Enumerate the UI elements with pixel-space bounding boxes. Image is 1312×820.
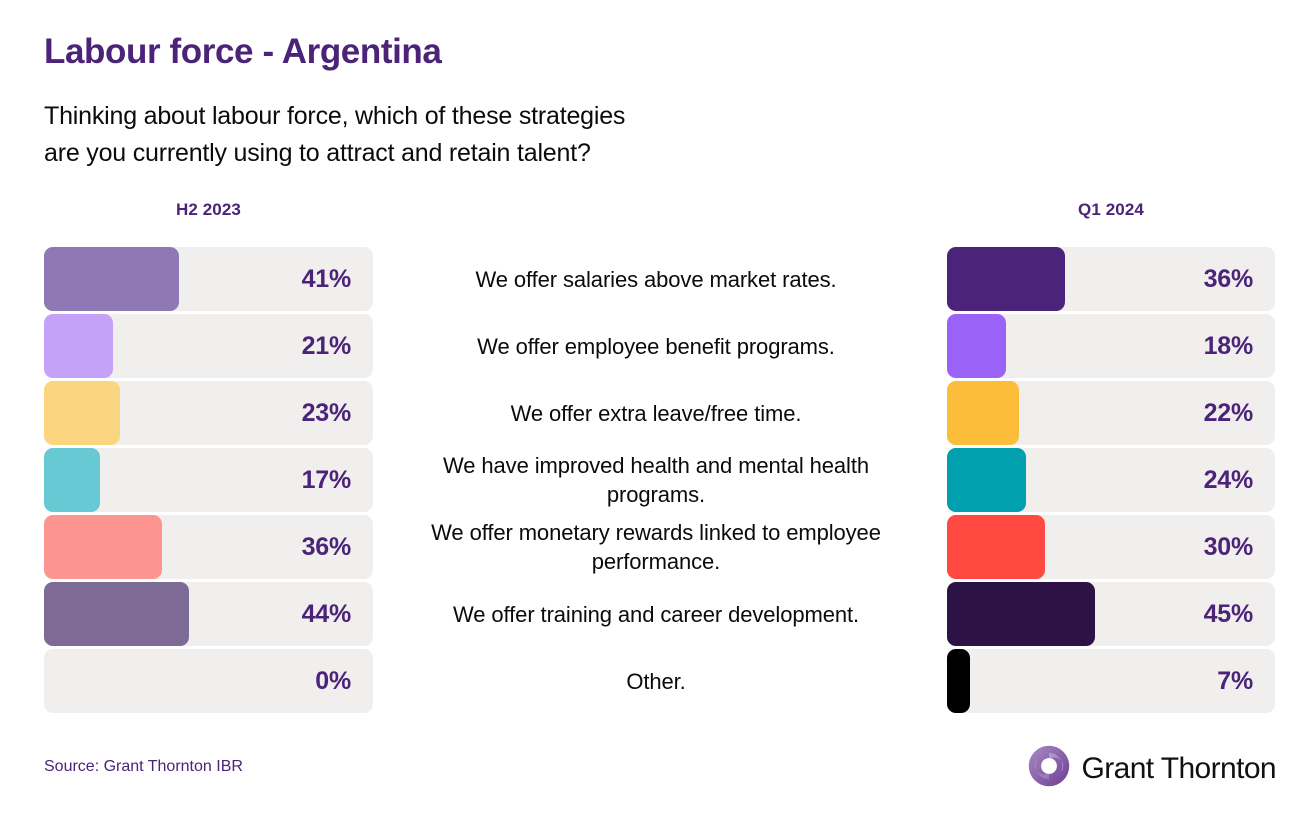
subtitle-line-2: are you currently using to attract and r…: [44, 135, 625, 172]
bar-row: 23%We offer extra leave/free time.22%: [0, 381, 1312, 445]
category-label-text: We offer extra leave/free time.: [511, 399, 802, 428]
bar-row: 21%We offer employee benefit programs.18…: [0, 314, 1312, 378]
logo-wordmark: Grant Thornton: [1082, 752, 1277, 786]
category-label: We offer extra leave/free time.: [411, 381, 901, 445]
category-label: We offer salaries above market rates.: [411, 247, 901, 311]
category-label-text: We offer salaries above market rates.: [475, 265, 836, 294]
bar-value-right: 7%: [947, 649, 1253, 713]
bar-row: 36%We offer monetary rewards linked to e…: [0, 515, 1312, 579]
subtitle-line-1: Thinking about labour force, which of th…: [44, 102, 625, 130]
bar-value-left: 41%: [44, 247, 351, 311]
category-label: We offer monetary rewards linked to empl…: [411, 515, 901, 579]
bar-value-left: 17%: [44, 448, 351, 512]
bar-value-right: 18%: [947, 314, 1253, 378]
bar-row: 44%We offer training and career developm…: [0, 582, 1312, 646]
grant-thornton-swirl-icon: [1027, 744, 1071, 793]
bar-value-left: 36%: [44, 515, 351, 579]
page-subtitle: Thinking about labour force, which of th…: [44, 98, 625, 172]
bar-value-left: 0%: [44, 649, 351, 713]
bar-value-right: 24%: [947, 448, 1253, 512]
page-title: Labour force - Argentina: [44, 32, 441, 72]
bar-row: 17%We have improved health and mental he…: [0, 448, 1312, 512]
bar-value-right: 45%: [947, 582, 1253, 646]
bar-rows-container: 41%We offer salaries above market rates.…: [0, 247, 1312, 716]
category-label-text: Other.: [626, 667, 685, 696]
category-label-text: We offer training and career development…: [453, 600, 859, 629]
brand-logo: Grant Thornton: [1027, 744, 1277, 793]
bar-value-right: 22%: [947, 381, 1253, 445]
category-label: Other.: [411, 649, 901, 713]
category-label-text: We have improved health and mental healt…: [411, 451, 901, 509]
bar-value-right: 30%: [947, 515, 1253, 579]
bar-value-left: 44%: [44, 582, 351, 646]
category-label-text: We offer monetary rewards linked to empl…: [411, 518, 901, 576]
column-header-right: Q1 2024: [947, 200, 1275, 220]
source-note: Source: Grant Thornton IBR: [44, 758, 243, 776]
bar-value-left: 21%: [44, 314, 351, 378]
chart-canvas: Labour force - Argentina Thinking about …: [0, 0, 1312, 820]
category-label: We offer employee benefit programs.: [411, 314, 901, 378]
category-label-text: We offer employee benefit programs.: [477, 332, 835, 361]
column-header-left: H2 2023: [44, 200, 373, 220]
category-label: We offer training and career development…: [411, 582, 901, 646]
bar-value-right: 36%: [947, 247, 1253, 311]
bar-row: 0%Other.7%: [0, 649, 1312, 713]
bar-row: 41%We offer salaries above market rates.…: [0, 247, 1312, 311]
category-label: We have improved health and mental healt…: [411, 448, 901, 512]
bar-value-left: 23%: [44, 381, 351, 445]
